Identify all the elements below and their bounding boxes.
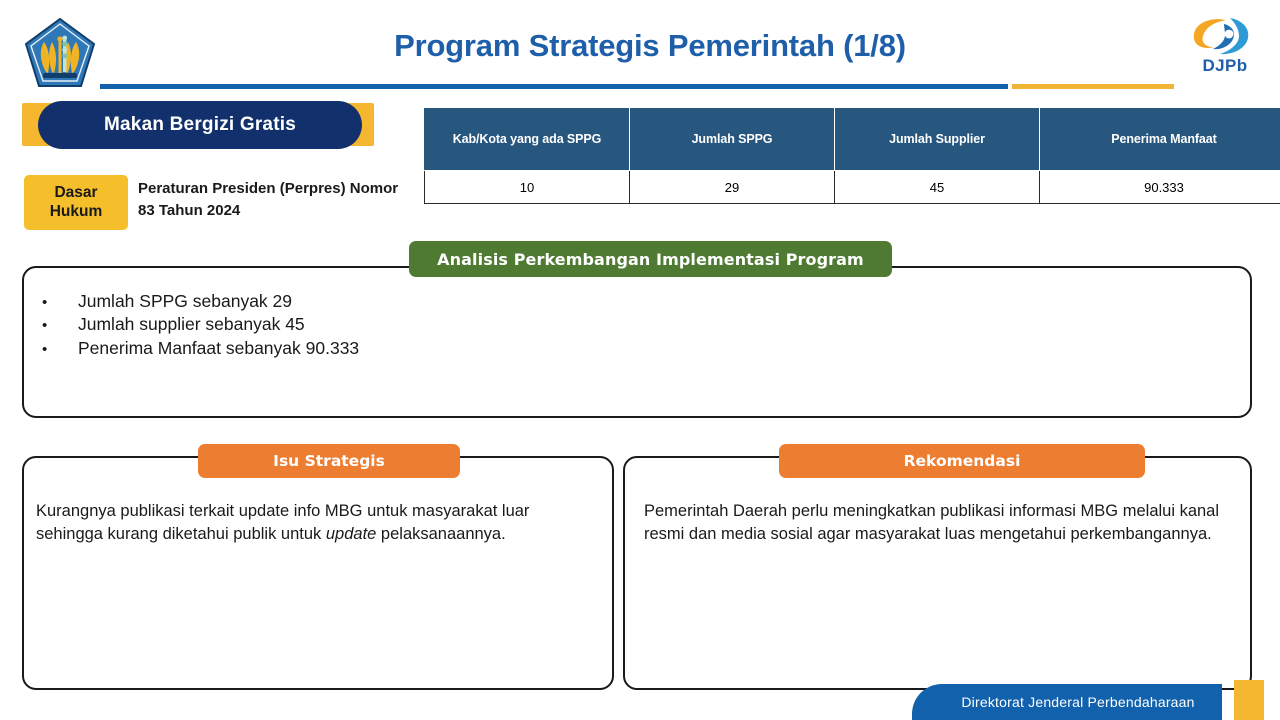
rekomendasi-text: Pemerintah Daerah perlu meningkatkan pub… <box>644 500 1244 547</box>
dasar-hukum-line-1: Dasar <box>54 184 97 203</box>
table-header-jumlah-sppg: Jumlah SPPG <box>630 108 835 171</box>
isu-strategis-banner: Isu Strategis <box>198 444 460 478</box>
bullet-glyph-icon: • <box>40 316 78 336</box>
isu-strategis-text-part-2: pelaksanaannya. <box>376 525 505 543</box>
table-header-jumlah-supplier: Jumlah Supplier <box>835 108 1040 171</box>
table-row: 10 29 45 90.333 <box>425 171 1280 204</box>
dasar-hukum-text: Peraturan Presiden (Perpres) Nomor 83 Ta… <box>138 178 418 222</box>
table-header-penerima-manfaat: Penerima Manfaat <box>1040 108 1280 171</box>
table-header-row: Kab/Kota yang ada SPPG Jumlah SPPG Jumla… <box>425 108 1280 171</box>
rekomendasi-panel <box>623 456 1252 690</box>
table-cell-kabkota: 10 <box>425 171 630 204</box>
isu-strategis-panel <box>22 456 614 690</box>
footer-label: Direktorat Jenderal Perbendaharaan <box>939 694 1194 710</box>
isu-strategis-text-emphasis: update <box>326 525 376 543</box>
djpb-wordmark: DJPb <box>1186 56 1264 76</box>
dasar-hukum-label-box: Dasar Hukum <box>24 175 128 230</box>
table-cell-jumlah-supplier: 45 <box>835 171 1040 204</box>
isu-strategis-text: Kurangnya publikasi terkait update info … <box>36 500 598 547</box>
footer-accent-block <box>1234 680 1264 720</box>
isu-strategis-banner-label: Isu Strategis <box>273 452 385 470</box>
list-item: • Penerima Manfaat sebanyak 90.333 <box>40 337 740 360</box>
list-item-label: Jumlah supplier sebanyak 45 <box>78 313 305 336</box>
program-badge-label: Makan Bergizi Gratis <box>104 114 296 136</box>
table-cell-penerima-manfaat: 90.333 <box>1040 171 1280 204</box>
list-item-label: Jumlah SPPG sebanyak 29 <box>78 290 292 313</box>
list-item: • Jumlah SPPG sebanyak 29 <box>40 290 740 313</box>
table-cell-jumlah-sppg: 29 <box>630 171 835 204</box>
list-item: • Jumlah supplier sebanyak 45 <box>40 313 740 336</box>
program-badge: Makan Bergizi Gratis <box>38 101 362 149</box>
dasar-hukum-line-2: Hukum <box>50 203 103 222</box>
analysis-banner-label: Analisis Perkembangan Implementasi Progr… <box>437 250 864 269</box>
header-rule-yellow <box>1012 84 1174 89</box>
table-header-kabkota: Kab/Kota yang ada SPPG <box>425 108 630 171</box>
analysis-banner: Analisis Perkembangan Implementasi Progr… <box>409 241 892 277</box>
bullet-glyph-icon: • <box>40 293 78 313</box>
rekomendasi-banner-label: Rekomendasi <box>904 452 1021 470</box>
stats-table: Kab/Kota yang ada SPPG Jumlah SPPG Jumla… <box>424 107 1280 204</box>
rekomendasi-banner: Rekomendasi <box>779 444 1145 478</box>
page-title: Program Strategis Pemerintah (1/8) <box>110 28 1190 64</box>
bullet-glyph-icon: • <box>40 340 78 360</box>
kemenkeu-pentagon-logo-icon <box>24 16 96 92</box>
analysis-bullet-list: • Jumlah SPPG sebanyak 29 • Jumlah suppl… <box>40 290 740 360</box>
header-rule-blue <box>100 84 1008 89</box>
list-item-label: Penerima Manfaat sebanyak 90.333 <box>78 337 359 360</box>
footer-bar: Direktorat Jenderal Perbendaharaan <box>912 684 1222 720</box>
